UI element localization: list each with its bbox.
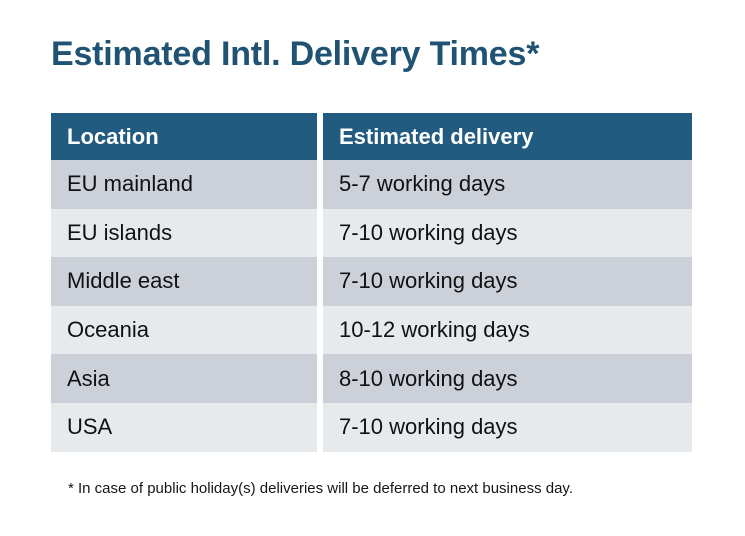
table-row: EU mainland 5-7 working days: [51, 160, 692, 209]
footnote-text: * In case of public holiday(s) deliverie…: [68, 480, 573, 497]
table-row: Middle east 7-10 working days: [51, 257, 692, 306]
cell-location: Middle east: [51, 257, 317, 306]
cell-location: USA: [51, 403, 317, 452]
table-row: USA 7-10 working days: [51, 403, 692, 452]
column-header-location: Location: [51, 113, 317, 160]
cell-location: Asia: [51, 354, 317, 403]
cell-delivery: 8-10 working days: [323, 354, 692, 403]
cell-location: EU islands: [51, 209, 317, 258]
cell-delivery: 10-12 working days: [323, 306, 692, 355]
column-header-estimated-delivery: Estimated delivery: [323, 113, 692, 160]
page-title: Estimated Intl. Delivery Times*: [51, 36, 539, 73]
cell-location: Oceania: [51, 306, 317, 355]
delivery-times-panel: Estimated Intl. Delivery Times* Location…: [0, 0, 745, 536]
delivery-times-table: Location Estimated delivery EU mainland …: [51, 113, 692, 452]
cell-delivery: 7-10 working days: [323, 403, 692, 452]
cell-location: EU mainland: [51, 160, 317, 209]
cell-delivery: 7-10 working days: [323, 209, 692, 258]
table-row: Oceania 10-12 working days: [51, 306, 692, 355]
table-row: EU islands 7-10 working days: [51, 209, 692, 258]
cell-delivery: 7-10 working days: [323, 257, 692, 306]
table-row: Asia 8-10 working days: [51, 354, 692, 403]
table-header-row: Location Estimated delivery: [51, 113, 692, 160]
cell-delivery: 5-7 working days: [323, 160, 692, 209]
